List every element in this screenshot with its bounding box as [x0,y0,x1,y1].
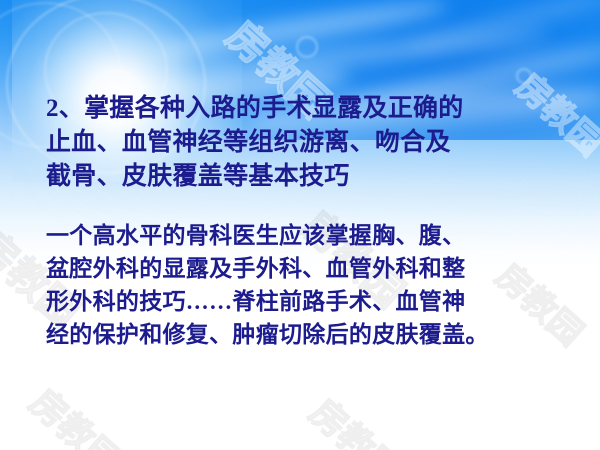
presentation-slide: 房教园房教园房教园房教园房教园房教园房教园 2、掌握各种入路的手术显露及正确的 … [0,0,600,450]
lens-flare-ring [296,36,318,58]
text-line: 经的保护和修复、肿瘤切除后的皮肤覆盖。 [46,318,566,351]
paragraph-objective-2: 2、掌握各种入路的手术显露及正确的 止血、血管神经等组织游离、吻合及 截骨、皮肤… [46,92,566,194]
text-line: 形外科的技巧……脊柱前路手术、血管神 [46,285,566,318]
text-line: 盆腔外科的显露及手外科、血管外科和整 [46,252,566,285]
text-line: 截骨、皮肤覆盖等基本技巧 [46,160,566,194]
lens-flare-ring [516,68,532,84]
paragraph-explanation: 一个高水平的骨科医生应该掌握胸、腹、 盆腔外科的显露及手外科、血管外科和整 形外… [46,219,566,351]
slide-text-content: 2、掌握各种入路的手术显露及正确的 止血、血管神经等组织游离、吻合及 截骨、皮肤… [46,92,566,351]
text-line: 止血、血管神经等组织游离、吻合及 [46,126,566,160]
text-line: 2、掌握各种入路的手术显露及正确的 [46,92,566,126]
text-line: 一个高水平的骨科医生应该掌握胸、腹、 [46,219,566,252]
